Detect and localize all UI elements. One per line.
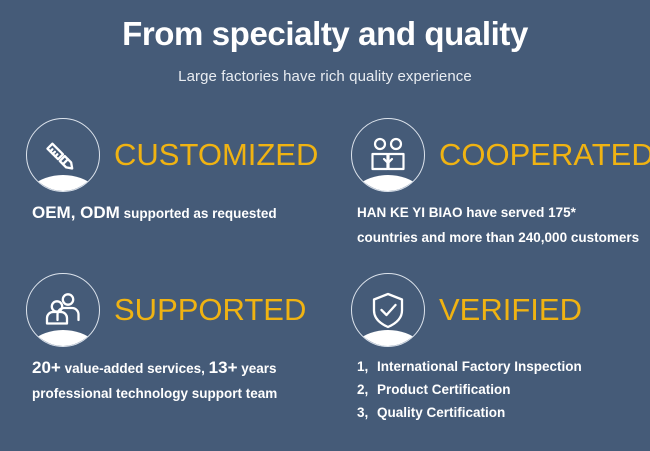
desc-number-1: 20+ [32, 358, 61, 377]
feature-head: CUSTOMIZED [26, 112, 325, 198]
feature-description: HAN KE YI BIAO have served 175* countrie… [351, 198, 650, 250]
desc-rest: supported as requested [120, 206, 277, 221]
feature-title: COOPERATED [425, 138, 650, 172]
list-item-label: International Factory Inspection [377, 359, 582, 374]
team-people-icon [26, 273, 100, 347]
feature-description: 20+ value-added services, 13+ years prof… [26, 353, 325, 406]
feature-description: OEM, ODM supported as requested [26, 198, 325, 226]
desc-text-1: value-added services, [61, 361, 209, 376]
desc-line-2: countries and more than 240,000 customer… [357, 225, 650, 250]
feature-grid: CUSTOMIZED OEM, ODM supported as request… [0, 112, 650, 424]
page-subtitle: Large factories have rich quality experi… [0, 54, 650, 87]
list-item: 3,Quality Certification [357, 401, 650, 424]
pencil-ruler-icon [26, 118, 100, 192]
page-title: From specialty and quality [0, 14, 650, 54]
feature-verified: VERIFIED 1,International Factory Inspect… [325, 267, 650, 424]
list-item-number: 1, [357, 355, 377, 378]
desc-text-2: years [238, 361, 277, 376]
feature-customized: CUSTOMIZED OEM, ODM supported as request… [0, 112, 325, 267]
feature-supported: SUPPORTED 20+ value-added services, 13+ … [0, 267, 325, 424]
shield-check-icon [351, 273, 425, 347]
feature-head: COOPERATED [351, 112, 650, 198]
list-item-label: Quality Certification [377, 405, 505, 420]
feature-cooperated: COOPERATED HAN KE YI BIAO have served 17… [325, 112, 650, 267]
feature-head: VERIFIED [351, 267, 650, 353]
promo-banner: From specialty and quality Large factori… [0, 0, 650, 451]
feature-title: VERIFIED [425, 293, 582, 327]
list-item: 2,Product Certification [357, 378, 650, 401]
list-item-number: 3, [357, 401, 377, 424]
desc-line-2: professional technology support team [32, 381, 325, 406]
feature-title: CUSTOMIZED [100, 138, 318, 172]
feature-title: SUPPORTED [100, 293, 306, 327]
banner-header: From specialty and quality Large factori… [0, 0, 650, 87]
desc-emphasis: OEM, ODM [32, 203, 120, 222]
desc-number-2: 13+ [209, 358, 238, 377]
list-item-number: 2, [357, 378, 377, 401]
list-item-label: Product Certification [377, 382, 511, 397]
desc-line-1: HAN KE YI BIAO have served 175* [357, 200, 650, 225]
desc-line-1: 20+ value-added services, 13+ years [32, 355, 325, 381]
verified-list: 1,International Factory Inspection 2,Pro… [351, 353, 650, 424]
feature-head: SUPPORTED [26, 267, 325, 353]
handshake-people-icon [351, 118, 425, 192]
list-item: 1,International Factory Inspection [357, 355, 650, 378]
